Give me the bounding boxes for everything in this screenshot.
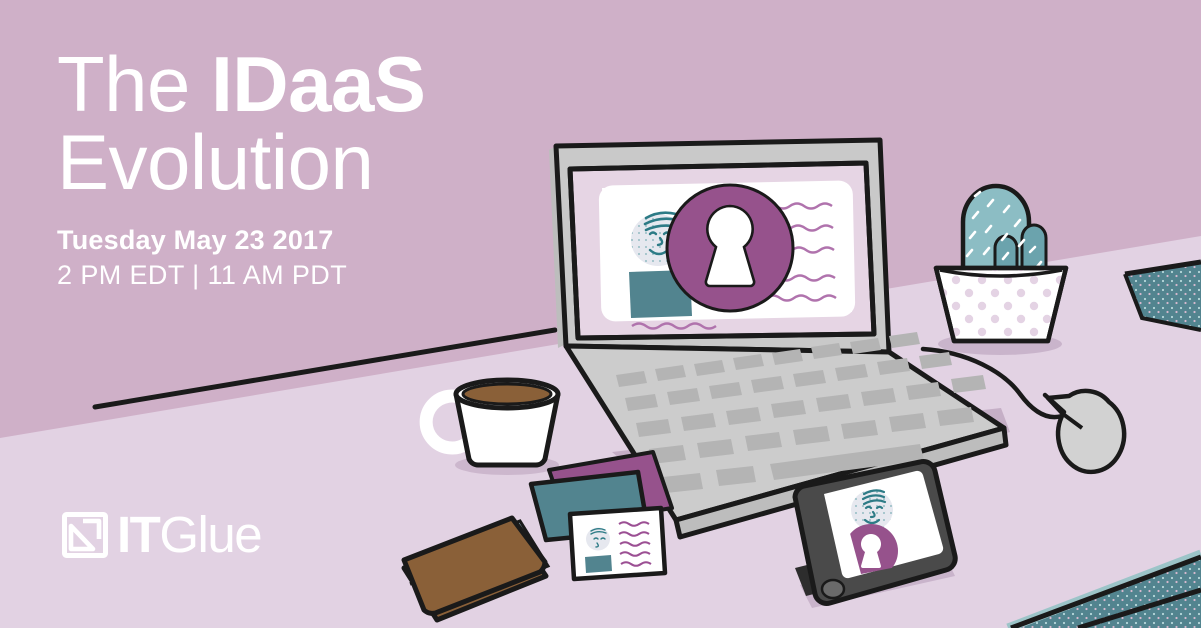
it-glue-square-mark-icon [62, 512, 108, 558]
headline-emphasis: IDaaS [211, 40, 425, 128]
it-glue-wordmark: ITGlue [117, 512, 261, 558]
phone-home-button [822, 580, 844, 598]
banner-canvas: The IDaaS Evolution Tuesday May 23 2017 … [0, 0, 1201, 628]
logo-word-glue: Glue [159, 506, 261, 563]
event-date: Tuesday May 23 2017 [57, 225, 425, 256]
business-card [570, 508, 665, 579]
event-time: 2 PM EDT | 11 AM PDT [57, 260, 425, 291]
logo-word-it: IT [117, 506, 159, 563]
keyhole-shape [706, 206, 754, 286]
it-glue-logo: ITGlue [62, 512, 261, 558]
headline-line-1: The IDaaS [57, 48, 425, 121]
coffee-liquid [463, 384, 551, 404]
keyhole-badge [667, 185, 793, 311]
headline-block: The IDaaS Evolution Tuesday May 23 2017 … [57, 48, 425, 291]
headline-plain: The [57, 40, 211, 128]
headline-line-2: Evolution [57, 123, 425, 201]
